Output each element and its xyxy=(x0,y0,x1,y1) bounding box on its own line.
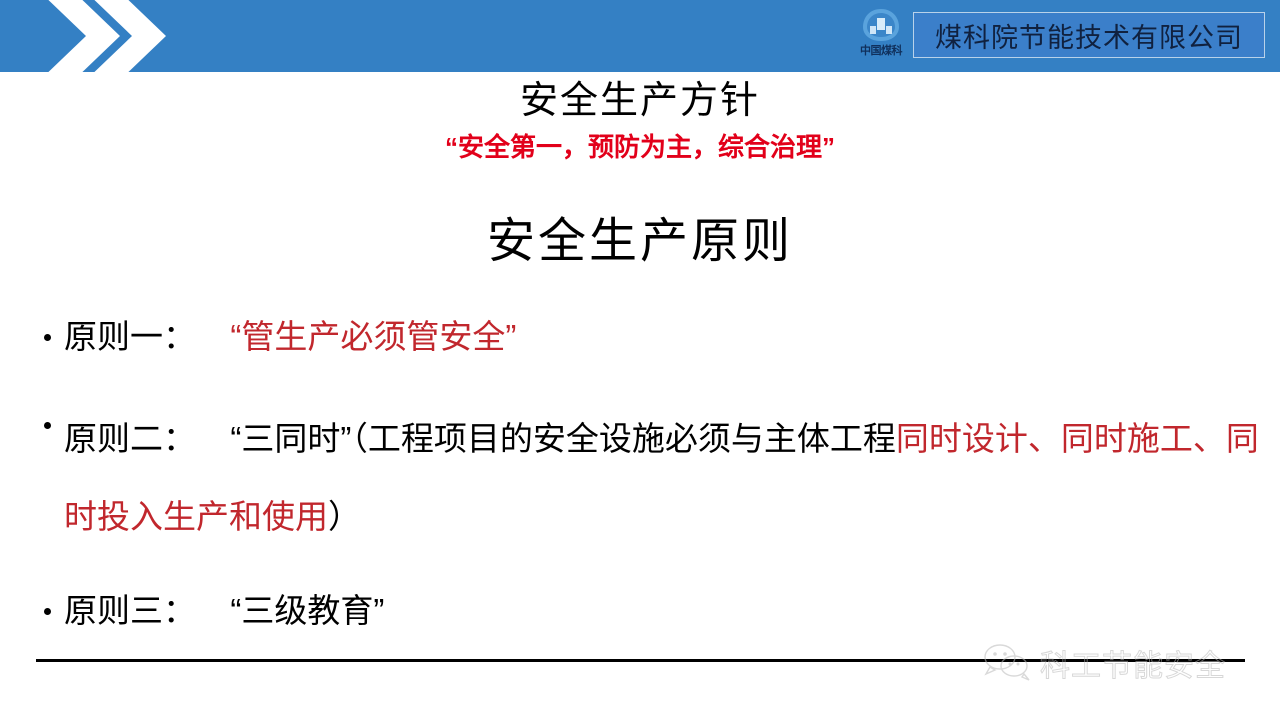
list-item: 原则三： “三级教育” xyxy=(40,586,1260,636)
principle-label: 原则一： xyxy=(64,318,196,355)
title-block: 安全生产方针 “安全第一，预防为主，综合治理” xyxy=(0,78,1280,168)
principle-text-part1: “三同时”（工程项目的安全设施必须与主体工程 xyxy=(230,420,895,457)
bullet-dot-icon xyxy=(44,608,51,615)
wechat-bubbles-icon xyxy=(980,641,1036,685)
section-title-principles: 安全生产原则 xyxy=(0,212,1280,272)
page-title: 安全生产方针 xyxy=(0,78,1280,124)
company-name-box: 煤科院节能技术有限公司 xyxy=(913,12,1265,58)
watermark-text: 科工节能安全 xyxy=(1040,641,1226,685)
principle-text: “管生产必须管安全” xyxy=(230,318,516,355)
principle-text-part3: ） xyxy=(328,498,361,535)
company-name-text: 煤科院节能技术有限公司 xyxy=(935,16,1243,55)
principle-text: “三级教育” xyxy=(230,592,384,629)
header-banner: 中国煤科 煤科院节能技术有限公司 xyxy=(0,0,1280,72)
zhongguo-meike-emblem-icon xyxy=(858,6,904,46)
principles-list: 原则一： “管生产必须管安全” 原则二： “三同时”（工程项目的安全设施必须与主… xyxy=(40,312,1260,636)
principle-label: 原则二： xyxy=(64,420,196,457)
principle-label: 原则三： xyxy=(64,592,196,629)
bullet-dot-icon xyxy=(44,422,51,429)
zhongguo-meike-label: 中国煤科 xyxy=(860,45,902,57)
safety-slogan: “安全第一，预防为主，综合治理” xyxy=(0,126,1280,168)
watermark: 科工节能安全 xyxy=(980,641,1226,685)
double-chevron-right-icon xyxy=(38,0,168,72)
list-item: 原则一： “管生产必须管安全” xyxy=(40,312,1260,362)
zhongguo-meike-logo: 中国煤科 xyxy=(845,6,917,68)
bullet-dot-icon xyxy=(44,334,51,341)
list-item: 原则二： “三同时”（工程项目的安全设施必须与主体工程同时设计、同时施工、同时投… xyxy=(40,400,1260,556)
